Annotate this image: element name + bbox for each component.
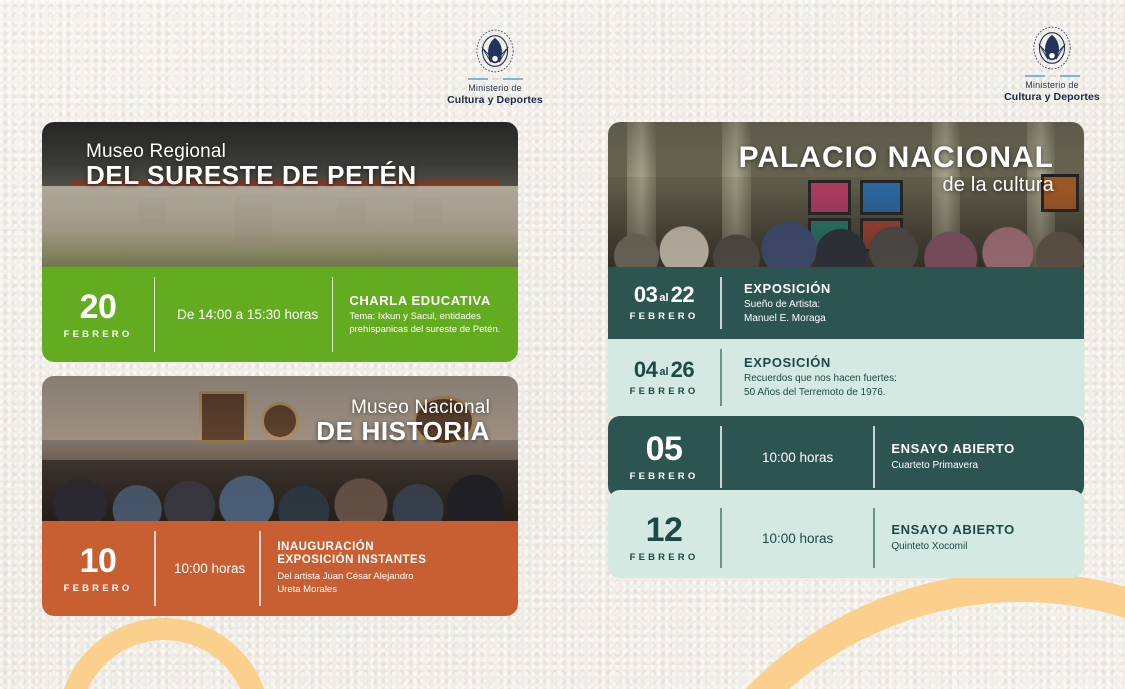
card-museo-nacional-de-historia[interactable]: Museo Nacional DE HISTORIA 10 FEBRERO 10… — [42, 376, 518, 616]
event-title: INAUGURACIÓN EXPOSICIÓN INSTANTES — [277, 541, 508, 568]
hero-title-big: DE HISTORIA — [316, 418, 490, 446]
hero-museo-regional: Museo Regional DEL SURESTE DE PETÉN — [42, 122, 518, 267]
event-month: FEBRERO — [42, 584, 154, 594]
event-title: EXPOSICIÓN — [744, 281, 1074, 296]
event-day-connector: al — [657, 292, 670, 304]
event-month: FEBRERO — [608, 553, 720, 563]
event-time: 10:00 horas — [156, 561, 259, 576]
hero-title-palacio-nacional: PALACIO NACIONAL de la cultura — [739, 142, 1054, 196]
event-detail: ENSAYO ABIERTO Quinteto Xocomil — [875, 522, 1084, 553]
event-detail: ENSAYO ABIERTO Cuarteto Primavera — [875, 441, 1084, 472]
event-detail: EXPOSICIÓN Sueño de Artista: Manuel E. M… — [722, 281, 1084, 326]
logo-line-2: Cultura y Deportes — [447, 94, 543, 106]
event-subtitle: Del artista Juan César Alejandro Ureta M… — [277, 570, 508, 596]
event-month: FEBRERO — [42, 330, 154, 340]
event-day: 20 — [80, 290, 117, 324]
logo-rule-right — [503, 78, 523, 80]
ministerio-logo-right: Ministerio de Cultura y Deportes — [992, 25, 1112, 103]
logo-rule-left — [1025, 75, 1045, 77]
event-subtitle: Sueño de Artista: Manuel E. Moraga — [744, 298, 1074, 326]
event-title: ENSAYO ABIERTO — [891, 522, 1074, 537]
event-date: 10 FEBRERO — [42, 544, 154, 594]
event-time: 10:00 horas — [722, 450, 873, 465]
logo-divider — [1025, 75, 1080, 77]
event-date: 12 FEBRERO — [608, 513, 720, 563]
event-date: 20 FEBRERO — [42, 290, 154, 340]
event-month: FEBRERO — [608, 312, 720, 322]
event-title: ENSAYO ABIERTO — [891, 441, 1074, 456]
event-time: 10:00 horas — [722, 531, 873, 546]
event-day-start: 04 — [634, 359, 657, 381]
logo-line-2: Cultura y Deportes — [1004, 91, 1100, 103]
event-time: De 14:00 a 15:30 horas — [155, 307, 332, 322]
event-month: FEBRERO — [608, 387, 720, 397]
logo-rule-mid — [492, 78, 499, 80]
hero-title-big: DEL SURESTE DE PETÉN — [86, 162, 417, 190]
event-day-connector: al — [657, 366, 670, 378]
event-row-10-febrero[interactable]: 10 FEBRERO 10:00 horas INAUGURACIÓN EXPO… — [42, 521, 518, 616]
card-museo-regional-sureste-peten[interactable]: Museo Regional DEL SURESTE DE PETÉN 20 F… — [42, 122, 518, 362]
event-day: 10 — [80, 544, 117, 578]
event-subtitle: Quinteto Xocomil — [891, 540, 1074, 554]
hero-title-museo-nacional-historia: Museo Nacional DE HISTORIA — [316, 398, 490, 446]
event-date: 04al26 FEBRERO — [608, 359, 720, 397]
event-subtitle: Recuerdos que nos hacen fuertes: 50 Años… — [744, 372, 1074, 400]
hero-palacio-nacional: PALACIO NACIONAL de la cultura — [608, 122, 1084, 267]
event-detail: EXPOSICIÓN Recuerdos que nos hacen fuert… — [722, 355, 1084, 400]
event-title: CHARLA EDUCATIVA — [349, 293, 508, 308]
logo-divider — [468, 78, 523, 80]
hero-museo-nacional-historia: Museo Nacional DE HISTORIA — [42, 376, 518, 521]
card-palacio-nacional-de-la-cultura[interactable]: PALACIO NACIONAL de la cultura 03al22 FE… — [608, 122, 1084, 578]
hero-title-big: PALACIO NACIONAL — [739, 142, 1054, 174]
event-row-05-febrero[interactable]: 05 FEBRERO 10:00 horas ENSAYO ABIERTO Cu… — [608, 416, 1084, 498]
event-title: EXPOSICIÓN — [744, 355, 1074, 370]
event-day-end: 26 — [671, 359, 694, 381]
event-day-start: 03 — [634, 284, 657, 306]
ministerio-logo-center: Ministerio de Cultura y Deportes — [435, 28, 555, 106]
logo-rule-mid — [1049, 75, 1056, 77]
event-row-03-al-22-febrero[interactable]: 03al22 FEBRERO EXPOSICIÓN Sueño de Artis… — [608, 267, 1084, 339]
event-month: FEBRERO — [608, 472, 720, 482]
event-date: 03al22 FEBRERO — [608, 284, 720, 322]
event-row-04-al-26-febrero[interactable]: 04al26 FEBRERO EXPOSICIÓN Recuerdos que … — [608, 339, 1084, 416]
event-date: 05 FEBRERO — [608, 432, 720, 482]
event-detail: INAUGURACIÓN EXPOSICIÓN INSTANTES Del ar… — [261, 541, 518, 596]
event-day-end: 22 — [671, 284, 694, 306]
guatemala-emblem-icon — [1031, 25, 1073, 71]
event-subtitle: Cuarteto Primavera — [891, 459, 1074, 473]
guatemala-emblem-icon — [474, 28, 516, 74]
hero-title-small: de la cultura — [739, 175, 1054, 196]
event-row-12-febrero[interactable]: 12 FEBRERO 10:00 horas ENSAYO ABIERTO Qu… — [608, 490, 1084, 578]
logo-line-1: Ministerio de — [1025, 81, 1079, 91]
event-day: 12 — [646, 513, 683, 547]
hero-title-museo-regional: Museo Regional DEL SURESTE DE PETÉN — [86, 142, 417, 190]
event-day: 05 — [646, 432, 683, 466]
event-detail: CHARLA EDUCATIVA Tema: Ixkun y Sacul, en… — [333, 293, 518, 337]
logo-line-1: Ministerio de — [468, 84, 522, 94]
event-subtitle: Tema: Ixkun y Sacul, entidades prehispan… — [349, 310, 508, 336]
logo-rule-right — [1060, 75, 1080, 77]
event-row-20-febrero[interactable]: 20 FEBRERO De 14:00 a 15:30 horas CHARLA… — [42, 267, 518, 362]
logo-rule-left — [468, 78, 488, 80]
